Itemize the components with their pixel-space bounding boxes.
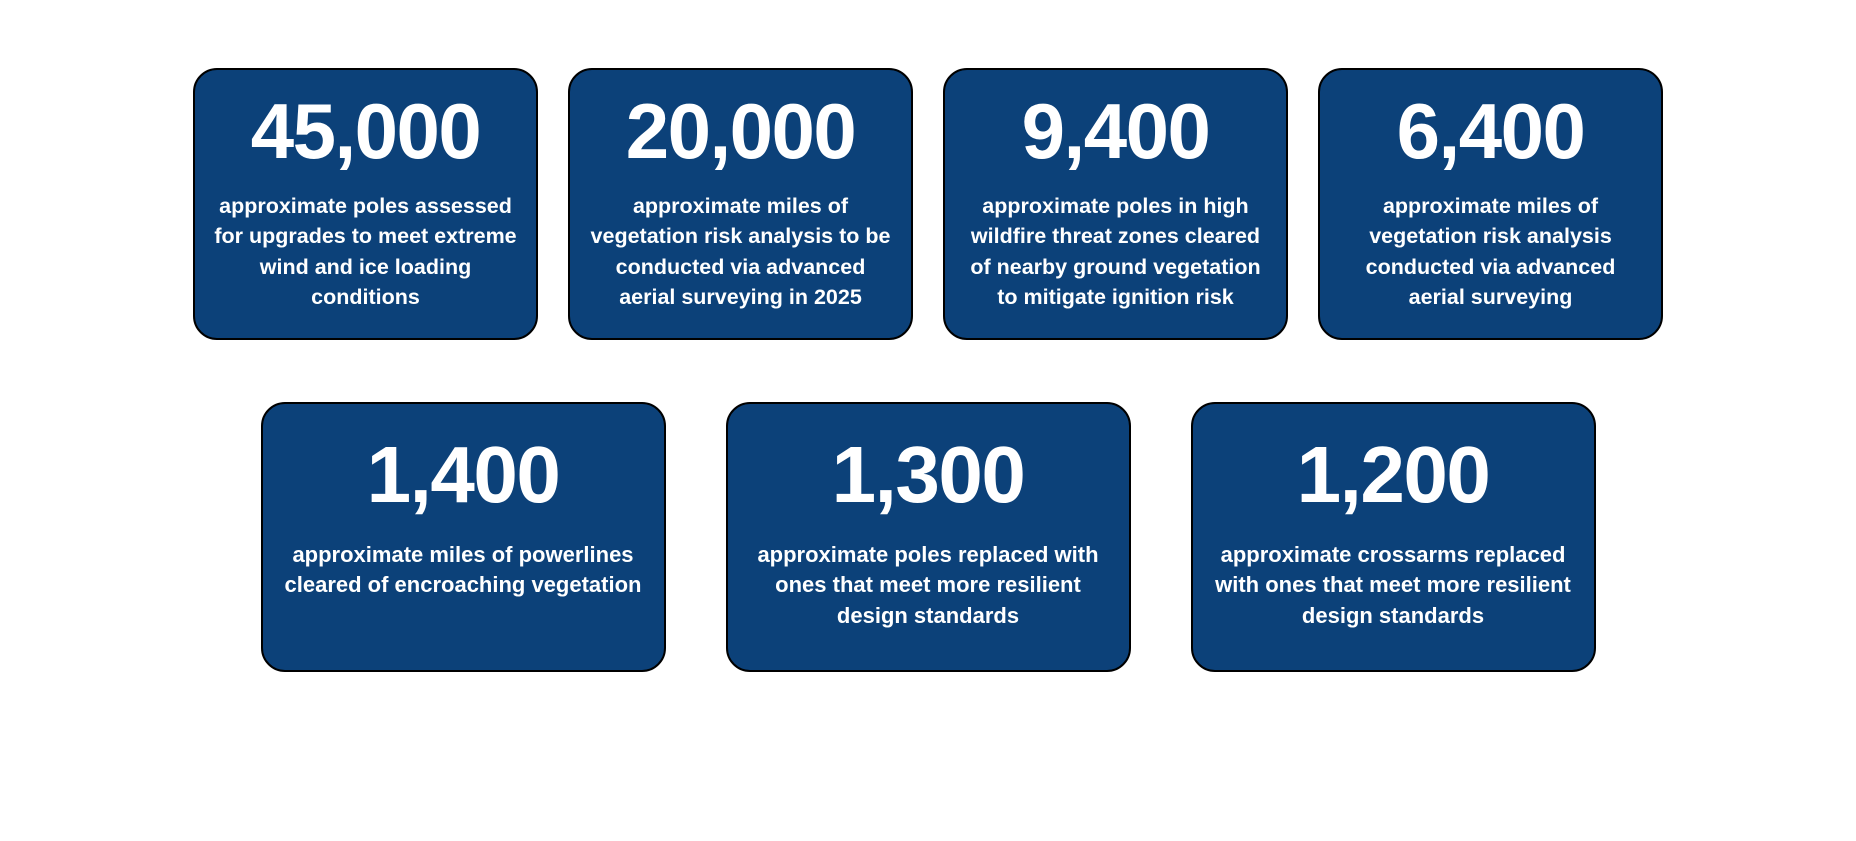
stat-card-miles-vegetation-planned: 20,000 approximate miles of vegetation r… — [568, 68, 913, 340]
stat-value: 20,000 — [626, 88, 856, 175]
stat-card-miles-vegetation-conducted: 6,400 approximate miles of vegetation ri… — [1318, 68, 1663, 340]
stat-label: approximate miles of vegetation risk ana… — [1336, 191, 1645, 311]
stat-label: approximate miles of vegetation risk ana… — [586, 191, 895, 311]
stat-card-powerlines-cleared: 1,400 approximate miles of powerlines cl… — [261, 402, 666, 672]
stat-card-row-bottom: 1,400 approximate miles of powerlines cl… — [0, 340, 1856, 672]
stat-card-row-top: 45,000 approximate poles assessed for up… — [0, 0, 1856, 340]
stat-label: approximate poles in high wildfire threa… — [961, 191, 1270, 311]
stat-value: 1,400 — [367, 430, 560, 520]
stat-label: approximate poles replaced with ones tha… — [744, 540, 1113, 632]
stat-value: 9,400 — [1022, 88, 1210, 175]
stat-card-poles-assessed: 45,000 approximate poles assessed for up… — [193, 68, 538, 340]
statistics-infographic: 45,000 approximate poles assessed for up… — [0, 0, 1856, 841]
stat-value: 6,400 — [1397, 88, 1585, 175]
stat-value: 45,000 — [251, 88, 481, 175]
stat-label: approximate poles assessed for upgrades … — [211, 191, 520, 311]
stat-label: approximate crossarms replaced with ones… — [1209, 540, 1578, 632]
stat-label: approximate miles of powerlines cleared … — [279, 540, 648, 602]
stat-value: 1,200 — [1297, 430, 1490, 520]
stat-value: 1,300 — [832, 430, 1025, 520]
stat-card-poles-wildfire-cleared: 9,400 approximate poles in high wildfire… — [943, 68, 1288, 340]
stat-card-poles-replaced: 1,300 approximate poles replaced with on… — [726, 402, 1131, 672]
stat-card-crossarms-replaced: 1,200 approximate crossarms replaced wit… — [1191, 402, 1596, 672]
